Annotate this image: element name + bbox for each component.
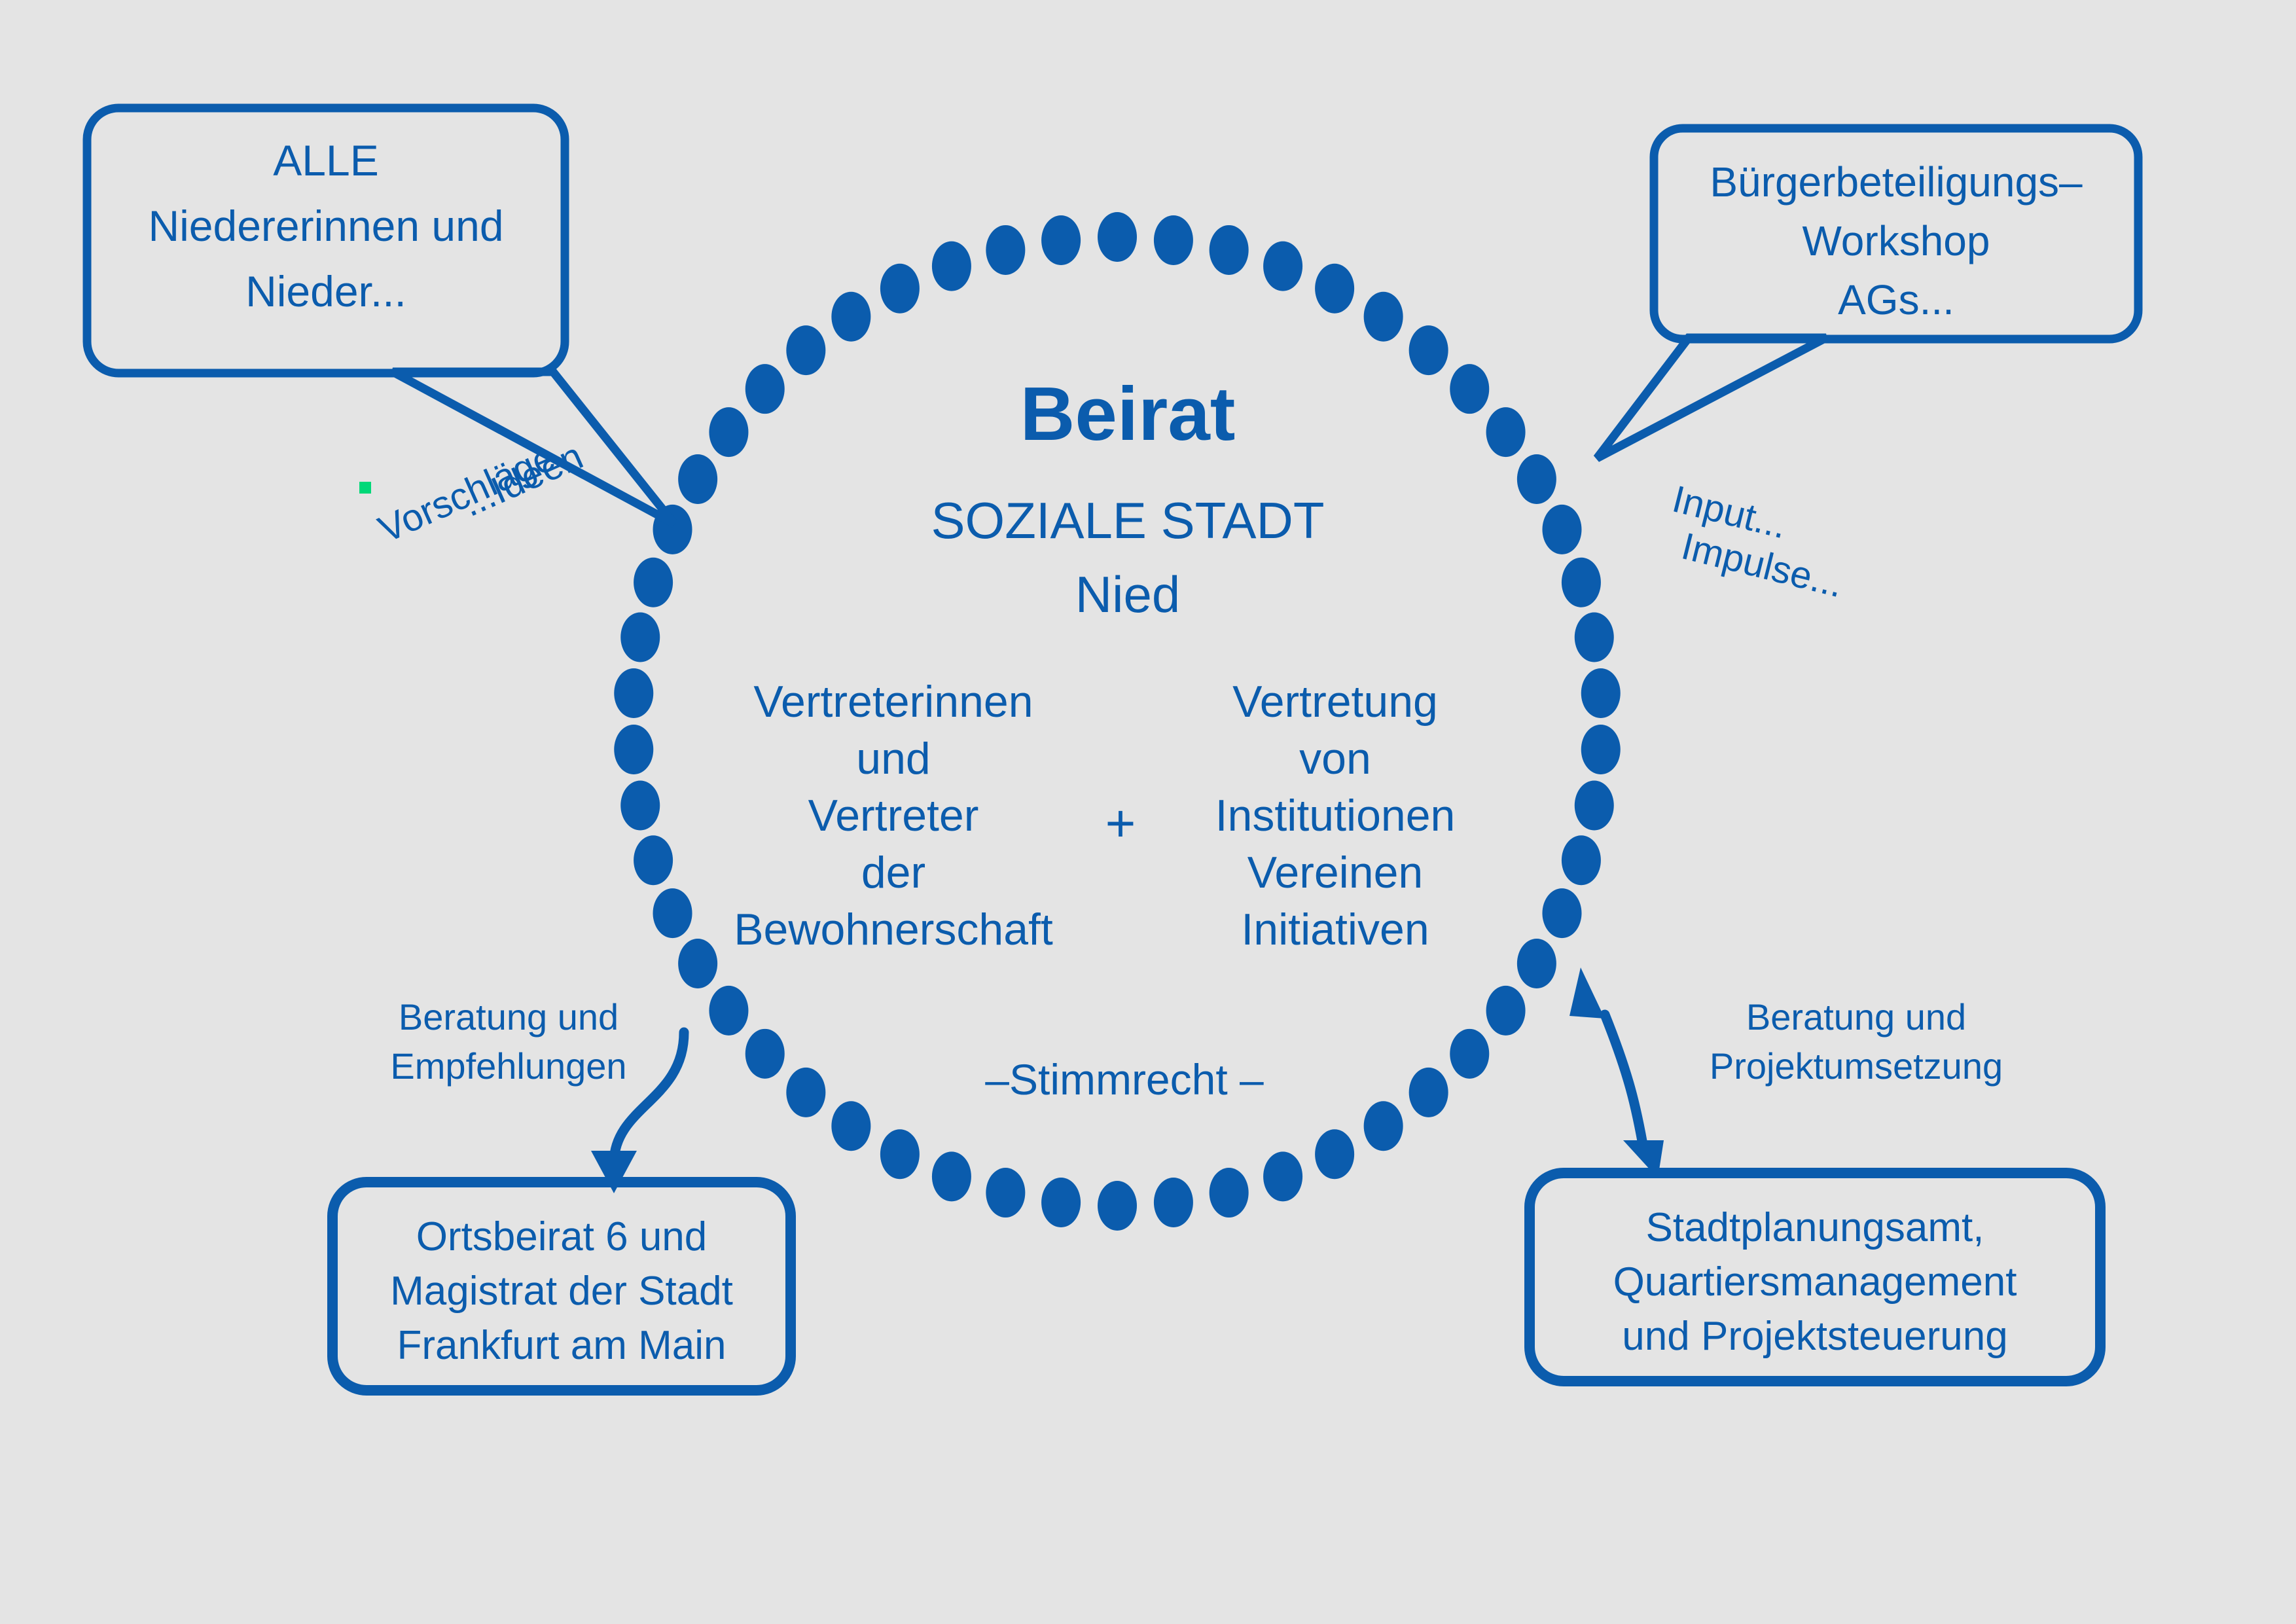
ring-dot	[986, 225, 1025, 275]
box-bottom-right-line-1: Stadtplanungsamt,	[1645, 1205, 1984, 1250]
box-bottom-right-line-3: und Projektsteuerung	[1622, 1314, 2007, 1359]
ring-dot	[614, 668, 653, 718]
center-left-line-4: der	[861, 848, 925, 897]
diagram-canvas: ALLE Niedererinnen und Nieder... Bürgerb…	[0, 0, 2296, 1624]
ring-dot	[620, 613, 660, 662]
ring-dot	[1542, 888, 1581, 938]
box-bottom-left-line-3: Frankfurt am Main	[397, 1323, 726, 1368]
center-right-line-5: Initiativen	[1241, 905, 1429, 954]
bubble-top-left-line-2: Niedererinnen und	[148, 202, 503, 250]
center-right-line-1: Vertretung	[1232, 677, 1438, 727]
center-subtitle-line-1: SOZIALE STADT	[931, 492, 1325, 549]
ring-dot	[634, 558, 673, 607]
center-footer-stimmrecht: –Stimmrecht –	[985, 1055, 1264, 1104]
arrow-bottom-right: Beratung und Projektumsetzung	[1570, 967, 2003, 1178]
ring-dot	[1098, 1181, 1137, 1231]
ring-dot	[620, 781, 660, 831]
ring-dot	[1263, 1151, 1302, 1201]
center-left-column: Vertreterinnen und Vertreter der Bewohne…	[734, 677, 1053, 954]
center-right-line-2: von	[1299, 734, 1371, 784]
arrow-bottom-right-label-1: Beratung und	[1746, 996, 1966, 1038]
ring-dot	[1581, 725, 1621, 774]
center-left-line-2: und	[856, 734, 930, 784]
ring-dot	[1486, 986, 1526, 1036]
center-left-line-3: Vertreter	[808, 791, 979, 840]
ring-dot	[932, 242, 971, 291]
diagram-svg: ALLE Niedererinnen und Nieder... Bürgerb…	[0, 0, 2296, 1624]
ring-dot	[1315, 264, 1354, 314]
ring-dot	[1364, 1101, 1403, 1151]
center-plus-operator: +	[1105, 794, 1136, 852]
ring-dot	[831, 1101, 870, 1151]
box-bottom-right[interactable]: Stadtplanungsamt, Quartiersmanagement un…	[1530, 1173, 2100, 1381]
ring-dot	[653, 888, 692, 938]
ring-dot	[1562, 558, 1601, 607]
ring-dot	[1154, 215, 1193, 265]
arrow-bottom-left-label-2: Empfehlungen	[390, 1045, 626, 1087]
ring-dot	[1409, 1068, 1448, 1117]
ring-dot	[1450, 1029, 1489, 1079]
ring-dot	[1409, 325, 1448, 375]
annotation-right-flow: Input... Impulse...	[1668, 478, 1848, 606]
speech-bubble-top-left[interactable]: ALLE Niedererinnen und Nieder...	[87, 108, 674, 524]
box-bottom-left-line-2: Magistrat der Stadt	[390, 1269, 733, 1314]
ring-dot	[880, 1129, 920, 1179]
ring-dot	[1581, 668, 1621, 718]
ring-dot	[745, 364, 785, 414]
annotation-left-flow: ...Ideen Vorschläge	[359, 435, 589, 551]
ring-dot	[1542, 505, 1581, 554]
ring-dot	[1450, 364, 1489, 414]
ring-dot	[1210, 1168, 1249, 1218]
center-left-line-5: Bewohnerschaft	[734, 905, 1053, 954]
ring-dot	[1517, 454, 1556, 504]
ring-dot	[1315, 1129, 1354, 1179]
ring-dot	[634, 835, 673, 885]
box-bottom-left-line-1: Ortsbeirat 6 und	[416, 1214, 708, 1259]
ring-dot	[1041, 1178, 1081, 1227]
bubble-top-left-line-3: Nieder...	[245, 267, 406, 316]
ring-dot	[786, 1068, 825, 1117]
arrow-bottom-right-head-up	[1570, 967, 1605, 1019]
ring-dot	[880, 264, 920, 314]
center-right-line-4: Vereinen	[1247, 848, 1423, 897]
arrow-bottom-left-label-1: Beratung und	[399, 996, 619, 1038]
box-bottom-left[interactable]: Ortsbeirat 6 und Magistrat der Stadt Fra…	[332, 1182, 791, 1390]
ring-dot	[678, 454, 717, 504]
center-title: Beirat	[1020, 371, 1236, 456]
arrow-bottom-right-curve	[1605, 1015, 1644, 1152]
ring-dot	[678, 939, 717, 988]
ring-dot	[1263, 242, 1302, 291]
ring-dot	[1210, 225, 1249, 275]
ring-dot	[932, 1151, 971, 1201]
ring-dot	[986, 1168, 1025, 1218]
ring-dot	[1486, 407, 1526, 457]
ring-dot	[745, 1029, 785, 1079]
ring-dot	[709, 407, 748, 457]
ring-dot	[1154, 1178, 1193, 1227]
ring-dot	[1098, 212, 1137, 262]
bubble-top-right-line-1: Bürgerbeteiligungs–	[1710, 158, 2083, 206]
arrow-bottom-right-label-2: Projektumsetzung	[1710, 1045, 2003, 1087]
green-square-marker	[359, 482, 371, 494]
ring-dot	[1517, 939, 1556, 988]
ring-dot	[1364, 292, 1403, 342]
bubble-top-right-line-3: AGs...	[1838, 276, 1954, 323]
ring-dot	[786, 325, 825, 375]
center-right-column: Vertretung von Institutionen Vereinen In…	[1215, 677, 1456, 954]
bubble-top-right-tail	[1597, 338, 1826, 458]
center-title-block: Beirat SOZIALE STADT Nied	[931, 371, 1325, 623]
ring-dot	[1562, 835, 1601, 885]
arrow-bottom-left: Beratung und Empfehlungen	[390, 996, 684, 1193]
bubble-top-left-line-1: ALLE	[273, 136, 378, 185]
ring-dot	[614, 725, 653, 774]
ring-dot	[709, 986, 748, 1036]
ring-dot	[1041, 215, 1081, 265]
center-left-line-1: Vertreterinnen	[753, 677, 1033, 727]
center-subtitle-line-2: Nied	[1075, 566, 1180, 623]
speech-bubble-top-right[interactable]: Bürgerbeteiligungs– Workshop AGs...	[1597, 128, 2138, 458]
ring-dot	[1575, 781, 1614, 831]
box-bottom-right-line-2: Quartiersmanagement	[1613, 1259, 2017, 1305]
bubble-top-right-line-2: Workshop	[1803, 217, 1990, 264]
ring-dot	[1575, 613, 1614, 662]
ring-dot	[831, 292, 870, 342]
center-right-line-3: Institutionen	[1215, 791, 1456, 840]
